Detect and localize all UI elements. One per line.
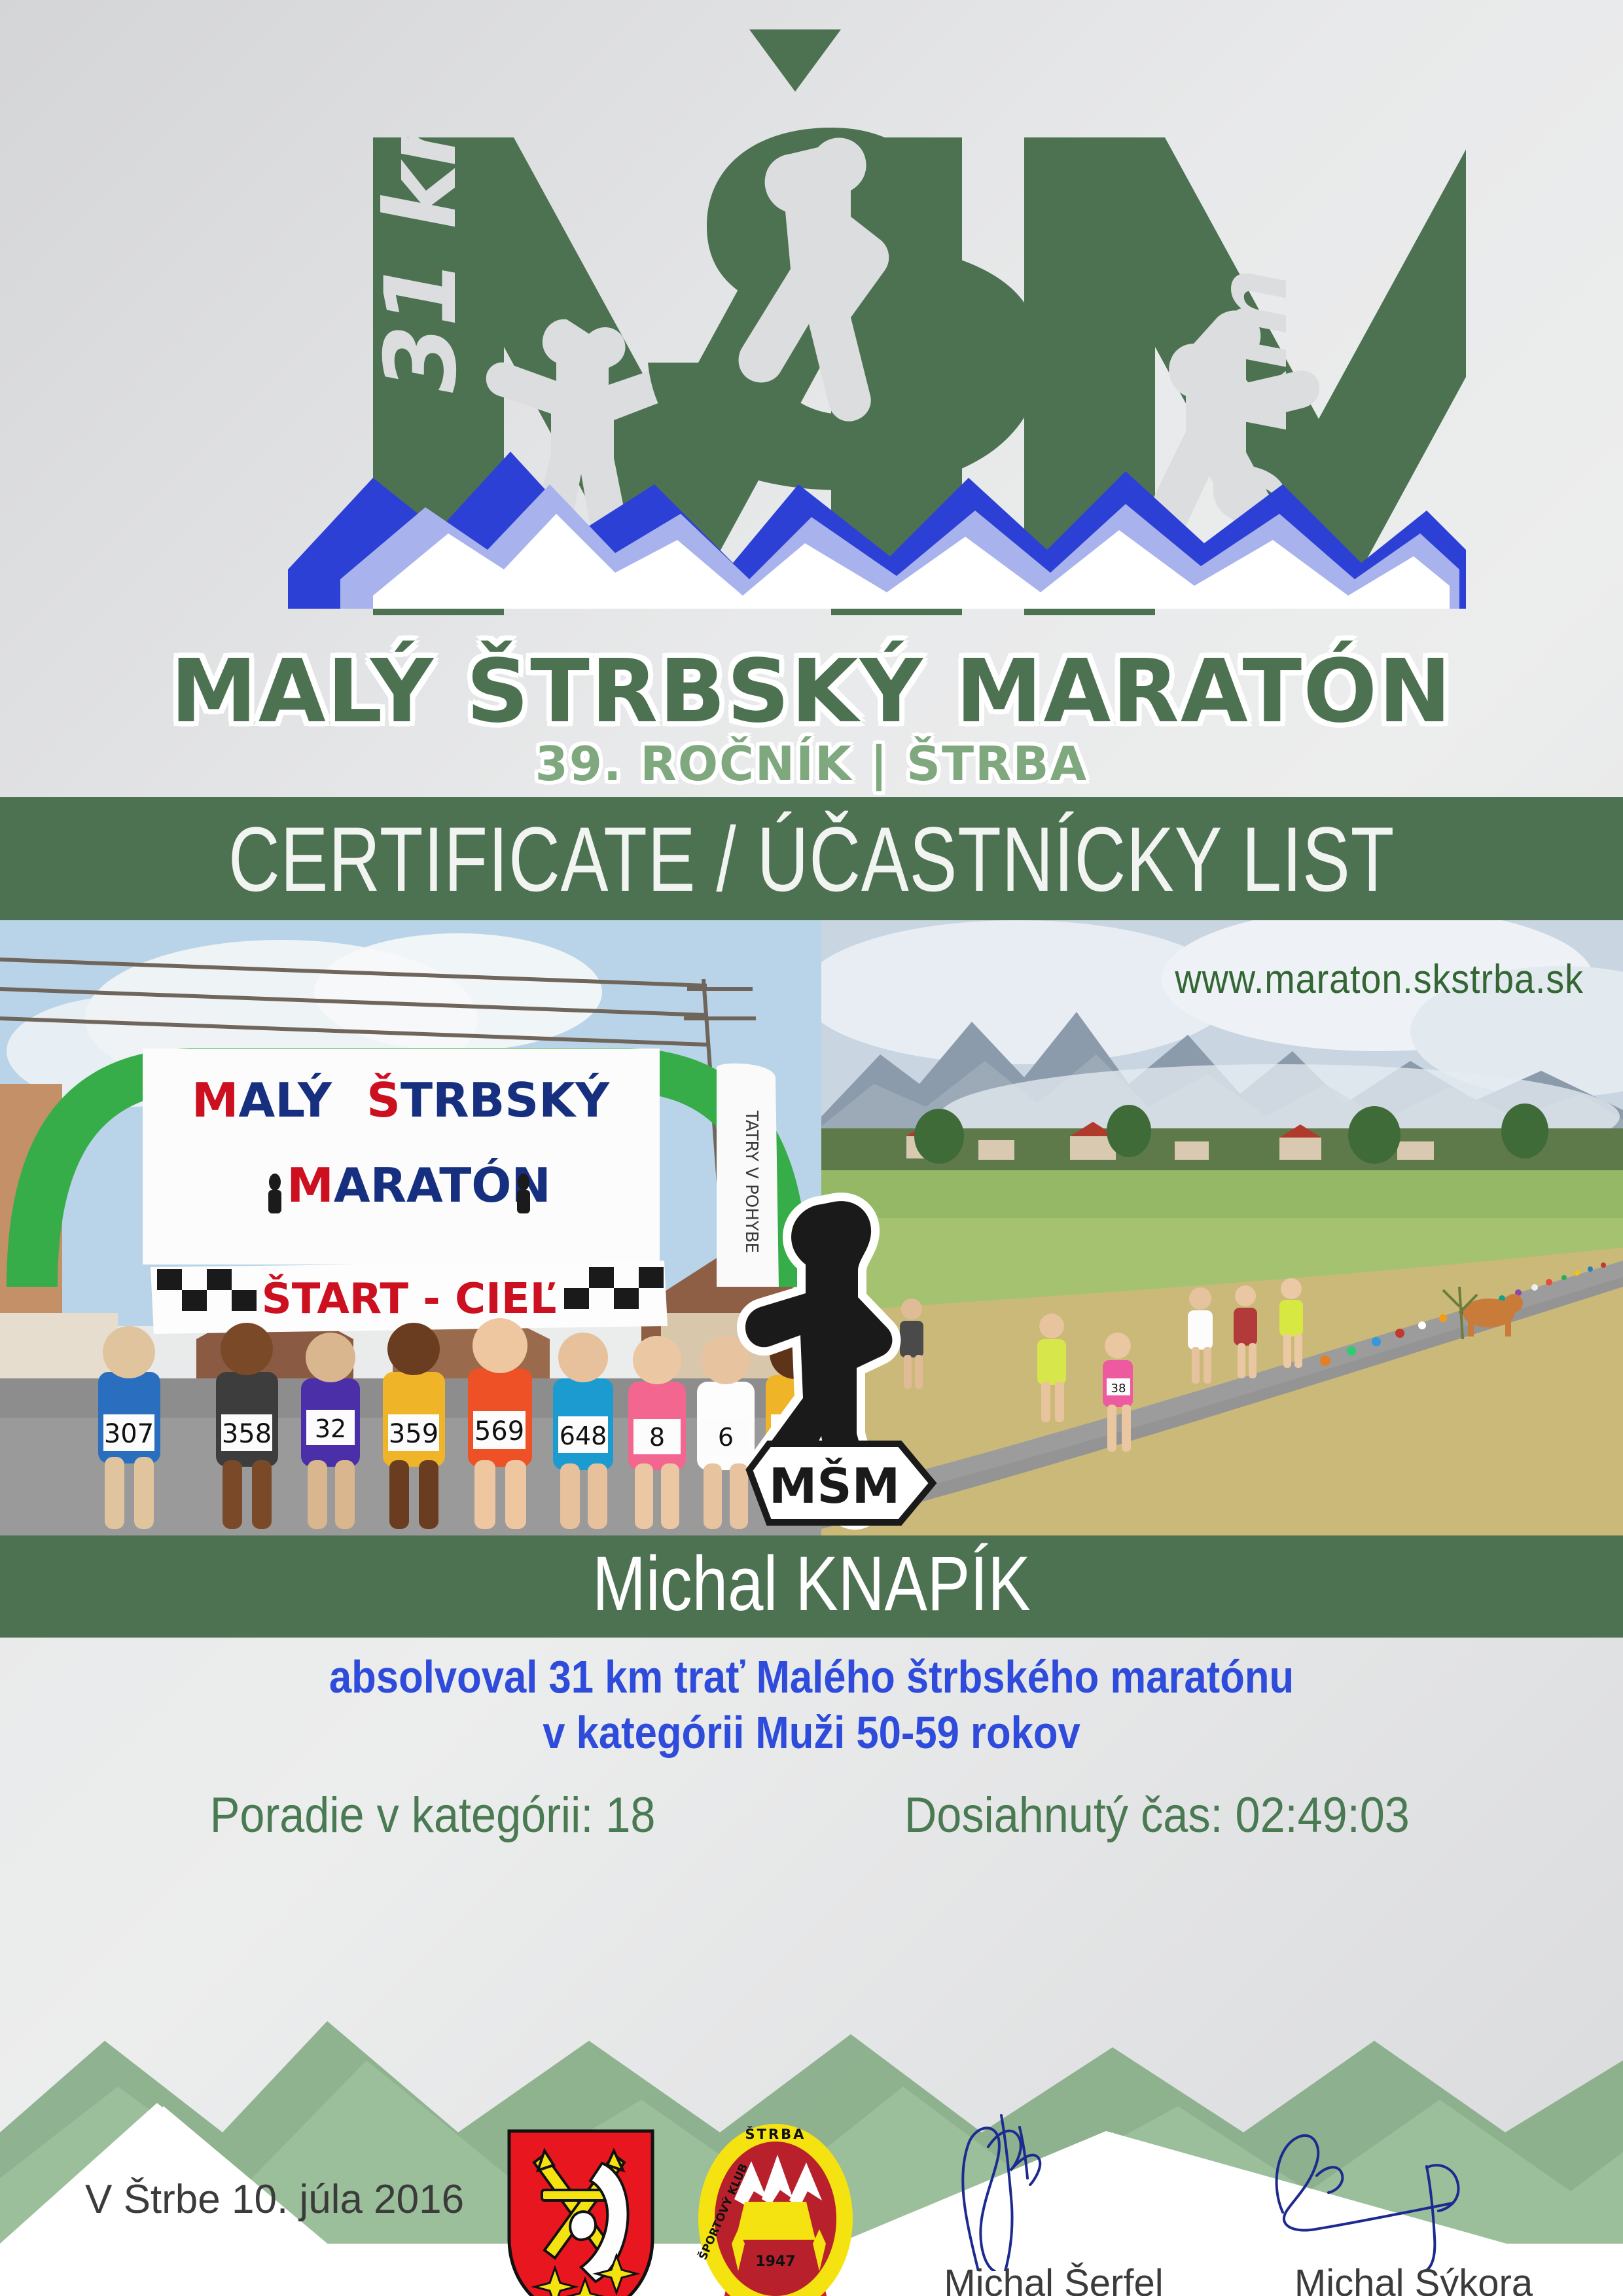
website-url[interactable]: www.maraton.skstrba.sk xyxy=(1175,956,1584,1003)
certificate-band-title: CERTIFICATE / ÚČASTNÍCKY LIST xyxy=(179,806,1444,912)
svg-text:31 km: 31 km xyxy=(365,67,478,393)
svg-text:6: 6 xyxy=(718,1423,734,1452)
signature-mark-director xyxy=(870,2108,1237,2271)
svg-text:648: 648 xyxy=(560,1422,607,1450)
result-description: absolvoval 31 km trať Malého štrbského m… xyxy=(0,1649,1623,1761)
obec-strba-crest xyxy=(504,2127,658,2296)
participant-name: Michal KNAPÍK xyxy=(138,1539,1485,1628)
msm-runner-emblem: MŠM xyxy=(736,1182,959,1535)
signature-mark-mayor xyxy=(1230,2108,1597,2271)
mayor-name: Michal Sýkora xyxy=(1230,2261,1597,2296)
start-line-illustration: MALÝ ŠTRBSKÝ MARATÓN xyxy=(0,920,821,1535)
event-subtitle: 39. ROČNÍK | ŠTRBA xyxy=(0,736,1623,791)
event-title: MALÝ ŠTRBSKÝ MARATÓN xyxy=(0,641,1623,742)
certificate-band: CERTIFICATE / ÚČASTNÍCKY LIST xyxy=(0,797,1623,920)
result-line-1: absolvoval 31 km trať Malého štrbského m… xyxy=(98,1649,1525,1705)
svg-text:38: 38 xyxy=(1111,1382,1126,1395)
msm-emblem-label: MŠM xyxy=(769,1457,901,1515)
sks-year: 1947 xyxy=(755,2253,795,2270)
msm-monogram-graphic: 31 km xyxy=(157,26,1466,615)
svg-text:MALÝ ŠTRBSKÝ: MALÝ ŠTRBSKÝ xyxy=(192,1073,610,1128)
photo-strip: MALÝ ŠTRBSKÝ MARATÓN xyxy=(0,920,1623,1535)
svg-text:32: 32 xyxy=(315,1414,346,1443)
msm-logo: 31 km xyxy=(0,26,1623,615)
svg-text:569: 569 xyxy=(474,1416,524,1446)
issue-date: V Štrbe 10. júla 2016 xyxy=(85,2176,464,2223)
certificate-page: 31 km xyxy=(0,0,1623,2296)
sks-club-logo: ŠTRBA 1947 ŠPORTOVÝ KLUB Š K Š xyxy=(694,2121,857,2296)
svg-text:358: 358 xyxy=(222,1419,272,1449)
header-section: 31 km xyxy=(0,0,1623,795)
svg-text:359: 359 xyxy=(389,1419,438,1449)
result-line-2: v kategórii Muži 50-59 rokov xyxy=(98,1705,1525,1761)
photo-start-line: MALÝ ŠTRBSKÝ MARATÓN xyxy=(0,920,821,1535)
signature-block-director: Michal Šerfel riaditeľ pretekov xyxy=(870,2121,1237,2296)
svg-text:307: 307 xyxy=(104,1419,154,1449)
sks-top-text: ŠTRBA xyxy=(745,2126,806,2142)
svg-text:ŠTART - CIEĽ: ŠTART - CIEĽ xyxy=(262,1274,557,1323)
footer-section: V Štrbe 10. júla 2016 Obec Štrba xyxy=(0,2036,1623,2296)
director-name: Michal Šerfel xyxy=(870,2261,1237,2296)
svg-text:MARATÓN: MARATÓN xyxy=(287,1158,551,1213)
signature-block-mayor: Michal Sýkora starosta obce Štrba xyxy=(1230,2121,1597,2296)
svg-text:8: 8 xyxy=(649,1423,665,1452)
participant-name-band: Michal KNAPÍK xyxy=(0,1535,1623,1638)
